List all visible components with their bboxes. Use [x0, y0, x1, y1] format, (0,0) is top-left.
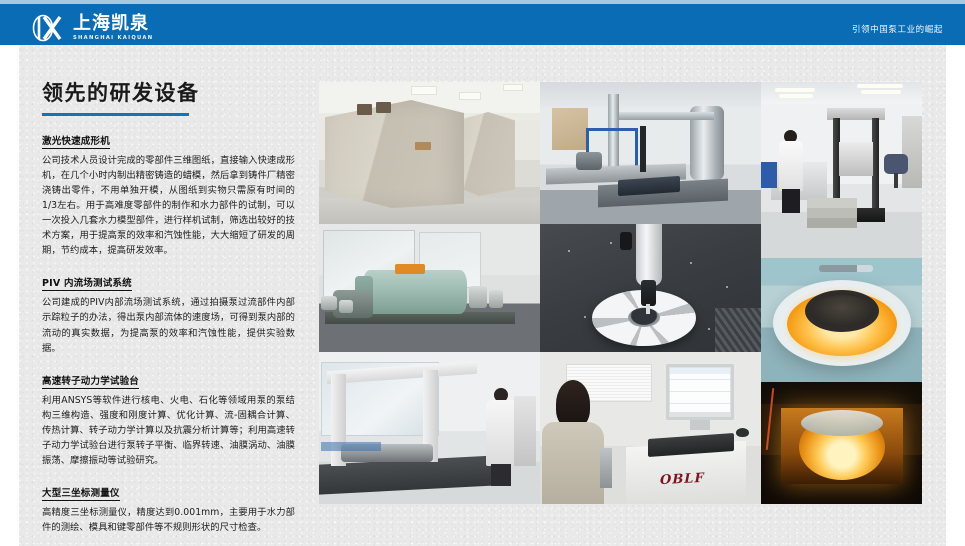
section-heading: PIV 内流场测试系统: [42, 275, 132, 291]
section-body: 公司技术人员设计完成的零部件三维图纸，直接输入快速成形机，在几个小时内制出精密铸…: [42, 153, 295, 258]
section-laser: 激光快速成形机 公司技术人员设计完成的零部件三维图纸，直接输入快速成形机，在几个…: [42, 129, 295, 258]
site-header: 上海凯泉 SHANGHAI KAIQUAN 引领中国泵工业的崛起: [0, 4, 965, 45]
photo-grid: OBLF: [319, 82, 922, 504]
section-rotor-dynamics: 高速转子动力学试验台 利用ANSYS等软件进行核电、火电、石化等领域用泵的泵结构…: [42, 369, 295, 468]
photo-cmm-gantry-with-technician: [319, 352, 540, 504]
photo-high-speed-rotor-dynamics-test-bench: [319, 224, 540, 352]
photo-column-3: [761, 82, 922, 504]
photo-universal-testing-machine-lab: [761, 82, 922, 258]
section-body: 公司建成的PIV内部流场测试系统，通过拍摄泵过流部件内部示踪粒子的办法，得出泵内…: [42, 295, 295, 355]
text-column: 领先的研发设备 激光快速成形机 公司技术人员设计完成的零部件三维图纸，直接输入快…: [42, 82, 295, 535]
section-heading: 大型三坐标测量仪: [42, 485, 120, 501]
photo-glowing-furnace-interior: [761, 382, 922, 504]
section-heading: 高速转子动力学试验台: [42, 373, 139, 389]
page-title: 领先的研发设备: [42, 82, 295, 105]
photo-laser-rapid-prototyping-machine: [319, 82, 540, 224]
kaiquan-kq-monogram-icon: [30, 14, 66, 42]
photo-column-1: [319, 82, 540, 504]
slide-page: 上海凯泉 SHANGHAI KAIQUAN 引领中国泵工业的崛起 领先的研发设备…: [0, 0, 965, 546]
logo-chinese-name: 上海凯泉: [73, 15, 153, 33]
section-body: 高精度三坐标测量仪，精度达到0.001mm，主要用于水力部件的测绘、模具和键零部…: [42, 505, 295, 535]
section-heading: 激光快速成形机: [42, 133, 110, 149]
section-piv: PIV 内流场测试系统 公司建成的PIV内部流场测试系统，通过拍摄泵过流部件内部…: [42, 271, 295, 355]
photo-column-2: OBLF: [540, 82, 761, 504]
photo-piv-flow-field-test-loop: [540, 82, 761, 224]
title-underline: [42, 113, 189, 116]
logo-english-name: SHANGHAI KAIQUAN: [73, 36, 153, 41]
photo-glowing-crucible-furnace-top-view: [761, 258, 922, 382]
photo-spectrometer-operator-workstation: OBLF: [540, 352, 761, 504]
section-cmm: 大型三坐标测量仪 高精度三坐标测量仪，精度达到0.001mm，主要用于水力部件的…: [42, 481, 295, 535]
brand-logo[interactable]: 上海凯泉 SHANGHAI KAIQUAN: [30, 13, 153, 43]
photo-impeller-on-granite-cmm-table: [540, 224, 761, 352]
equipment-brand-label: OBLF: [660, 471, 705, 488]
section-body: 利用ANSYS等软件进行核电、火电、石化等领域用泵的泵结构三维构造、强度和刚度计…: [42, 393, 295, 468]
header-tagline: 引领中国泵工业的崛起: [852, 8, 943, 49]
